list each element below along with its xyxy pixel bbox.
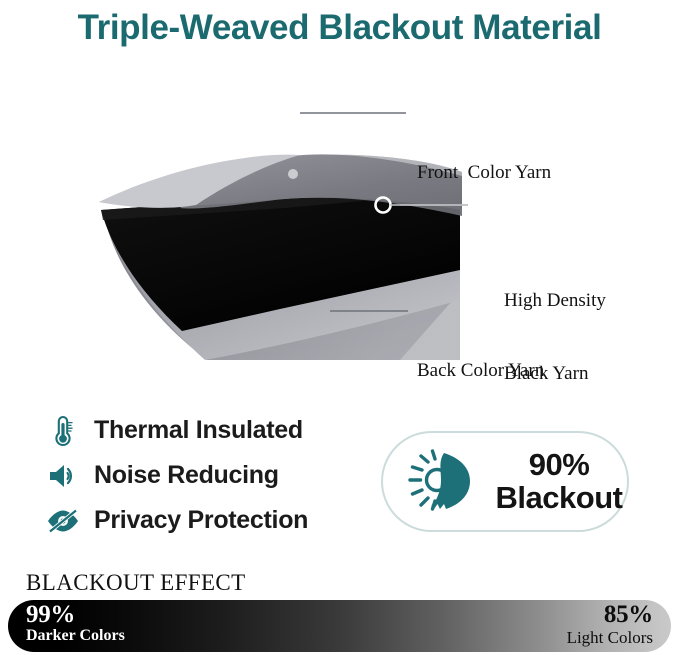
- label-back-color-yarn: Back Color Yarn: [417, 359, 544, 383]
- blackout-word: Blackout: [491, 482, 627, 514]
- label-high-density-black-yarn: High Density Black Yarn: [504, 240, 606, 435]
- blackout-effect-heading: BLACKOUT EFFECT: [26, 570, 246, 596]
- darker-colors-percent: 99%: [26, 602, 125, 627]
- light-colors-percent: 85%: [567, 602, 653, 627]
- eye-slash-icon: [44, 502, 82, 540]
- label-high-density-line1: High Density: [504, 289, 606, 313]
- feature-item-noise-reducing: Noise Reducing: [44, 453, 364, 498]
- sun-blocked-icon: [403, 447, 477, 517]
- darker-colors-stat: 99% Darker Colors: [26, 602, 125, 644]
- light-colors-stat: 85% Light Colors: [567, 602, 653, 646]
- features-list: Thermal Insulated Noise Reducing Privacy…: [44, 408, 364, 543]
- speaker-icon: [44, 457, 82, 495]
- page-title: Triple-Weaved Blackout Material: [0, 0, 679, 56]
- feature-item-thermal-insulated: Thermal Insulated: [44, 408, 364, 453]
- front-surface-highlight: [288, 169, 298, 179]
- blackout-badge-text: 90% Blackout: [491, 449, 627, 513]
- thermometer-icon: [44, 412, 82, 450]
- fabric-layers-diagram: Front Color Yarn High Density Black Yarn…: [0, 60, 679, 360]
- blackout-percent: 90%: [491, 449, 627, 481]
- feature-item-privacy-protection: Privacy Protection: [44, 498, 364, 543]
- feature-label: Thermal Insulated: [94, 416, 303, 445]
- label-front-color-yarn: Front Color Yarn: [417, 161, 551, 185]
- blackout-badge: 90% Blackout: [381, 431, 629, 532]
- light-colors-label: Light Colors: [567, 629, 653, 646]
- feature-label: Noise Reducing: [94, 461, 279, 490]
- darker-colors-label: Darker Colors: [26, 628, 125, 644]
- feature-label: Privacy Protection: [94, 506, 308, 535]
